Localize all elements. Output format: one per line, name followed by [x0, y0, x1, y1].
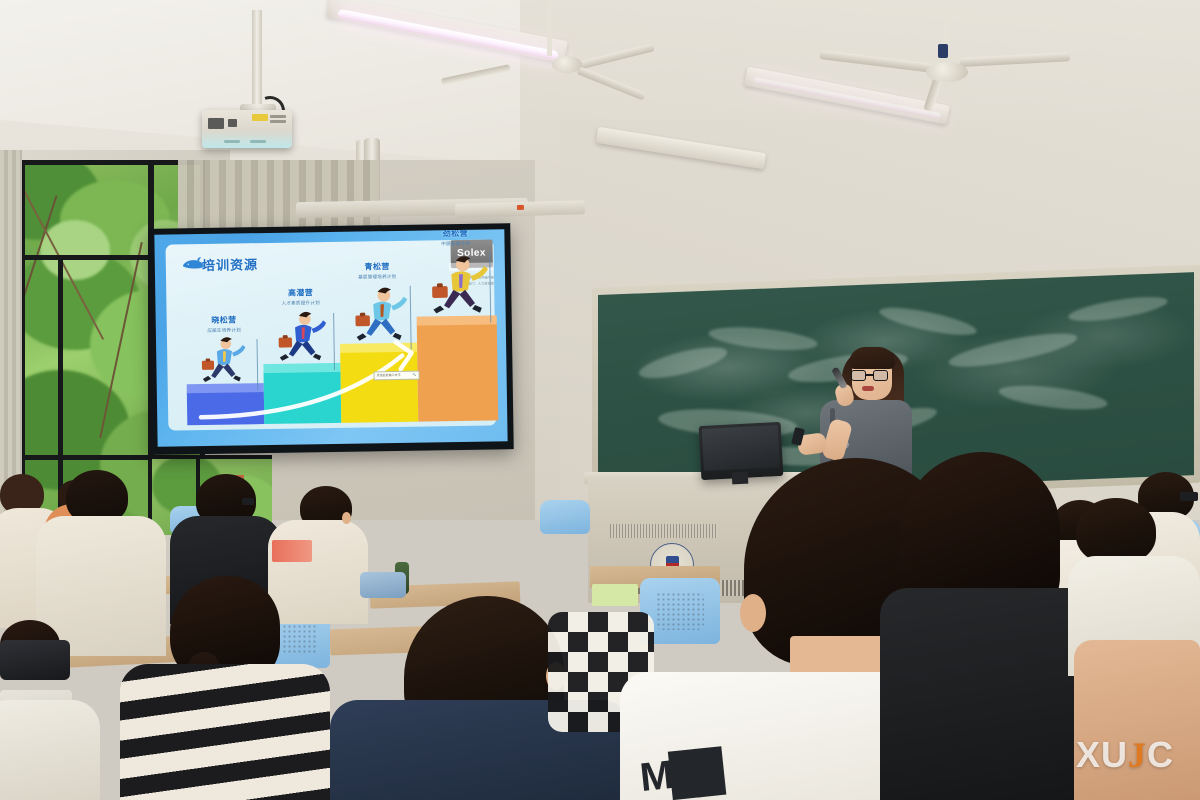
watermark-accent: J [1128, 734, 1147, 776]
step-name: 高潜营 [254, 287, 346, 299]
slide-callout-box: 点击此处输入文字 🔍 [374, 371, 420, 381]
backpack [0, 640, 70, 680]
slide-callout-text: 点击此处输入文字 [377, 373, 401, 377]
shirt-graphic: M██ [638, 748, 723, 800]
step-name: 青松营 [331, 260, 423, 272]
shirt-graphic [272, 540, 312, 562]
notebook [592, 584, 638, 606]
monitor-screen [702, 425, 780, 471]
chair-backrest-perforation [656, 592, 704, 630]
classroom-photo: 培训资源 Solex 保密等级：公开级内容 编制部门：人力资源部 晓松营应届生培… [0, 0, 1200, 800]
slide: 培训资源 Solex 保密等级：公开级内容 编制部门：人力资源部 晓松营应届生培… [154, 229, 507, 446]
step-label: 高潜营人才素质提升计划 [254, 287, 346, 307]
growth-arrow-icon [184, 321, 479, 423]
step-name: 劲松营 [409, 229, 501, 239]
classroom-chair [540, 500, 590, 534]
projector-mount-arm [252, 10, 262, 108]
ceiling-fan-rod-1 [547, 0, 552, 56]
step-label: 青松营基层管理培养计划 [331, 260, 423, 280]
projection-screen: 培训资源 Solex 保密等级：公开级内容 编制部门：人力资源部 晓松营应届生培… [148, 223, 514, 455]
staircase-chart: 晓松营应届生培养计划高潜营人才素质提升计划青松营基层管理培养计划劲松营中层管理计… [154, 229, 504, 234]
fan-motor-box [938, 44, 948, 58]
presenter-fringe [849, 347, 895, 369]
monitor-stand [732, 472, 749, 485]
eyeglasses-icon [851, 370, 891, 381]
ceiling-fan-hub-2 [926, 62, 968, 82]
ceiling-fan-hub-1 [552, 56, 582, 73]
eyeglasses-icon [242, 498, 254, 505]
projector [202, 110, 292, 148]
watermark-suffix: C [1147, 734, 1174, 776]
chair-backrest-perforation [282, 624, 318, 654]
backpack [360, 572, 406, 598]
search-icon: 🔍 [413, 373, 417, 377]
step-label: 劲松营中层管理计划 [409, 229, 501, 247]
watermark-logo: XUJC [1070, 728, 1180, 782]
runner-gold-icon [430, 253, 489, 322]
watermark-prefix: XU [1076, 734, 1128, 776]
slide-title: 培训资源 [202, 254, 258, 274]
presenter-mouth [862, 386, 874, 391]
eyeglasses-icon [1180, 492, 1198, 501]
